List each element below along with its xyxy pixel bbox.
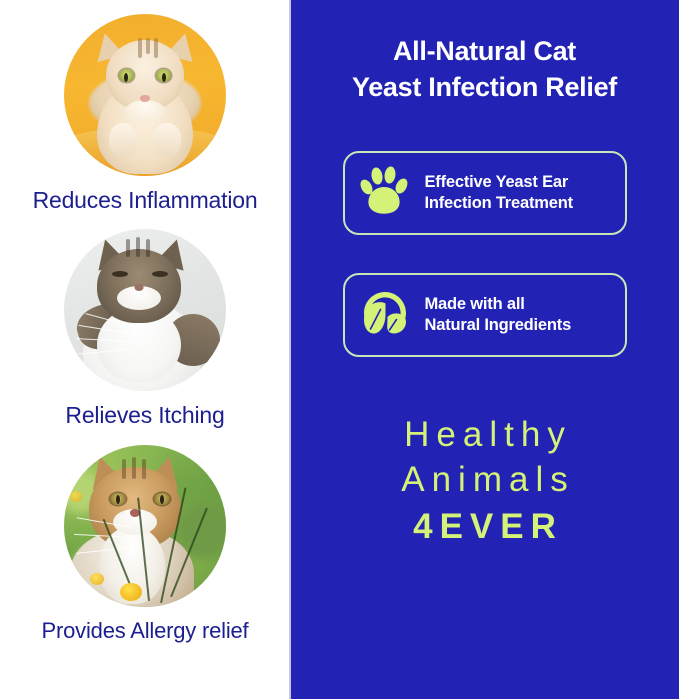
benefit-label: Reduces Inflammation bbox=[33, 188, 258, 213]
page-title: All-Natural Cat Yeast Infection Relief bbox=[352, 34, 617, 105]
cream-tabby-kitten-orange-background-photo bbox=[64, 14, 226, 176]
benefit-item-reduces-inflammation: Reduces Inflammation bbox=[0, 14, 290, 213]
brand-lockup: Healthy Animals 4EVER bbox=[308, 413, 661, 549]
claim-text-line-1: Made with all bbox=[425, 295, 525, 313]
claim-badge-list: Effective Yeast Ear Infection Treatment bbox=[308, 151, 661, 357]
tabby-white-cat-scratching-photo bbox=[64, 229, 226, 391]
brand-line-4ever: 4EVER bbox=[308, 505, 661, 550]
claim-text-line-1: Effective Yeast Ear bbox=[425, 173, 569, 191]
headline-line-2: Yeast Infection Relief bbox=[352, 70, 617, 106]
leaf-icon bbox=[359, 286, 411, 344]
column-divider bbox=[289, 0, 291, 699]
product-claims-panel: All-Natural Cat Yeast Infection Relief bbox=[290, 0, 679, 699]
benefit-label: Provides Allergy relief bbox=[42, 619, 249, 643]
brand-line-healthy: Healthy bbox=[308, 413, 661, 458]
claim-text-line-2: Infection Treatment bbox=[425, 194, 573, 212]
benefit-item-provides-allergy-relief: Provides Allergy relief bbox=[0, 445, 290, 643]
claim-badge-natural-ingredients: Made with all Natural Ingredients bbox=[343, 273, 627, 357]
claim-text-line-2: Natural Ingredients bbox=[425, 316, 572, 334]
headline-line-1: All-Natural Cat bbox=[352, 34, 617, 70]
ginger-cat-in-grass-photo bbox=[64, 445, 226, 607]
benefit-label: Relieves Itching bbox=[65, 403, 224, 428]
product-infographic: Reduces Inflammation bbox=[0, 0, 679, 699]
paw-icon bbox=[359, 164, 411, 222]
claim-badge-text: Made with all Natural Ingredients bbox=[425, 294, 572, 336]
claim-badge-yeast-ear-infection: Effective Yeast Ear Infection Treatment bbox=[343, 151, 627, 235]
benefits-column: Reduces Inflammation bbox=[0, 0, 290, 699]
brand-line-animals: Animals bbox=[308, 458, 661, 503]
claim-badge-text: Effective Yeast Ear Infection Treatment bbox=[425, 172, 573, 214]
benefit-item-relieves-itching: Relieves Itching bbox=[0, 229, 290, 428]
